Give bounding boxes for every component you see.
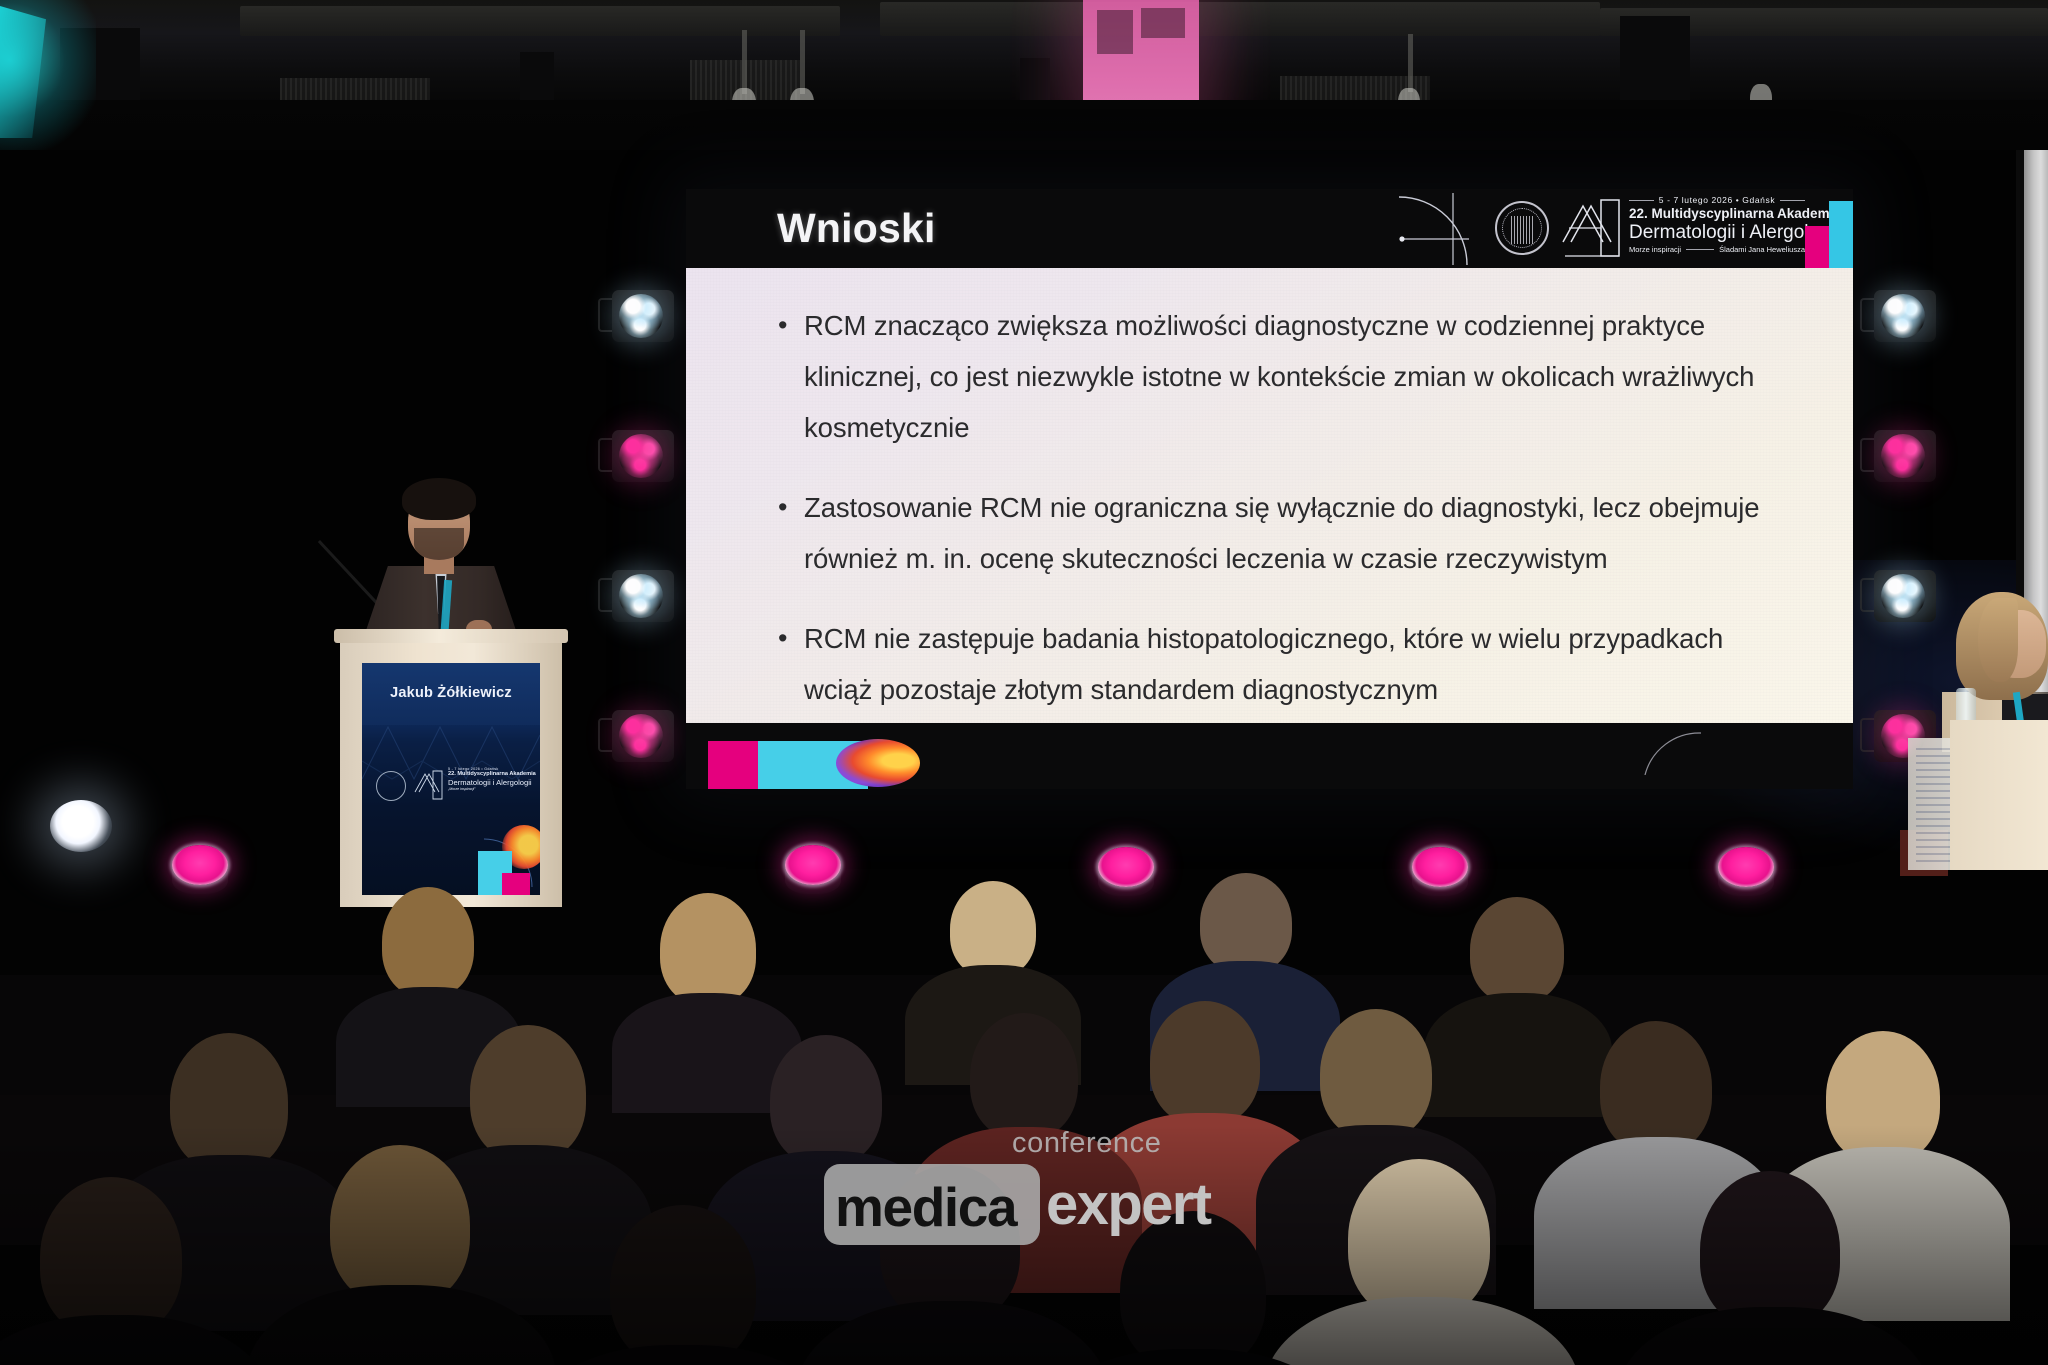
university-seal-icon [1495, 201, 1549, 255]
logo-name: Dermatologii i Alergologii [1629, 222, 1805, 243]
audience-head [1200, 873, 1292, 973]
logo-tagline-right: Śladami Jana Heweliusza [1719, 245, 1805, 254]
audience-area [0, 845, 2048, 1365]
audience-head [660, 893, 756, 1005]
academy-monogram-icon [1561, 198, 1623, 258]
gradient-orb-decoration [836, 739, 920, 787]
audience-head [950, 881, 1036, 977]
right-stage-light-column [1874, 290, 1944, 810]
left-stage-light-column [612, 290, 682, 810]
audience-head [1150, 1001, 1260, 1125]
slide-logo-text: 5 - 7 lutego 2026 • Gdańsk 22. Multidysc… [1629, 195, 1805, 254]
list-item: Zastosowanie RCM nie ograniczna się wyłą… [778, 482, 1778, 584]
watermark-expert-label: expert [1046, 1171, 1211, 1238]
list-item: RCM znacząco zwiększa możliwości diagnos… [778, 300, 1778, 453]
ceiling-light-rod [742, 30, 747, 94]
slide-header-logo-cluster: 5 - 7 lutego 2026 • Gdańsk 22. Multidysc… [1383, 189, 1853, 268]
cyan-square-decoration [1829, 201, 1853, 268]
speaker-person [350, 480, 530, 650]
magenta-block-decoration [708, 741, 758, 789]
watermark-medica-label: medica [835, 1175, 1016, 1239]
speaker-name-label: Jakub Żółkiewicz [362, 685, 540, 701]
watermark-conference-label: conference [1012, 1127, 1162, 1160]
arc-decoration-icon [1395, 191, 1473, 267]
ceiling-light-rod [800, 30, 805, 94]
lectern-logo-name: Dermatologii i Alergologii [448, 778, 528, 787]
slide-title: Wnioski [777, 203, 936, 253]
lectern-logo: 5 - 7 lutego 2026 • Gdańsk 22. Multidysc… [376, 767, 526, 807]
audience-head [970, 1013, 1078, 1139]
slide-bullet-list: RCM znacząco zwiększa możliwości diagnos… [778, 300, 1778, 744]
list-item: RCM nie zastępuje badania histopatologic… [778, 613, 1778, 715]
auditorium-scene: Wnioski 5 - 7 lutego 2026 • Gdańsk 22. M… [0, 0, 2048, 1365]
ceiling-duct [240, 6, 840, 36]
lectern-logo-tagline: „Morze inspiracji” [448, 787, 528, 791]
arc-decoration-icon [1643, 731, 1703, 775]
audience-head [1470, 897, 1564, 1003]
lectern-logo-edition: 22. Multidyscyplinarna Akademia [448, 771, 528, 778]
magenta-square-decoration [1805, 226, 1829, 268]
university-seal-icon [376, 771, 406, 801]
logo-edition: 22. Multidyscyplinarna Akademia [1629, 206, 1805, 222]
logo-dates-city: 5 - 7 lutego 2026 • Gdańsk [1659, 195, 1775, 205]
ceiling-light-rod [1408, 34, 1413, 92]
slide-body: RCM znacząco zwiększa możliwości diagnos… [686, 268, 1853, 723]
presentation-slide: Wnioski 5 - 7 lutego 2026 • Gdańsk 22. M… [686, 189, 1853, 789]
audience-shoulders [1424, 993, 1612, 1117]
academy-monogram-icon [414, 770, 444, 800]
audience-head [382, 887, 474, 997]
logo-tagline-left: Morze inspiracji [1629, 245, 1681, 254]
audience-head [1320, 1009, 1432, 1139]
slide-footer [686, 723, 1853, 789]
medicaexpert-conference-watermark: conference medica expert [824, 1127, 1232, 1245]
ceiling-duct [880, 2, 1600, 36]
